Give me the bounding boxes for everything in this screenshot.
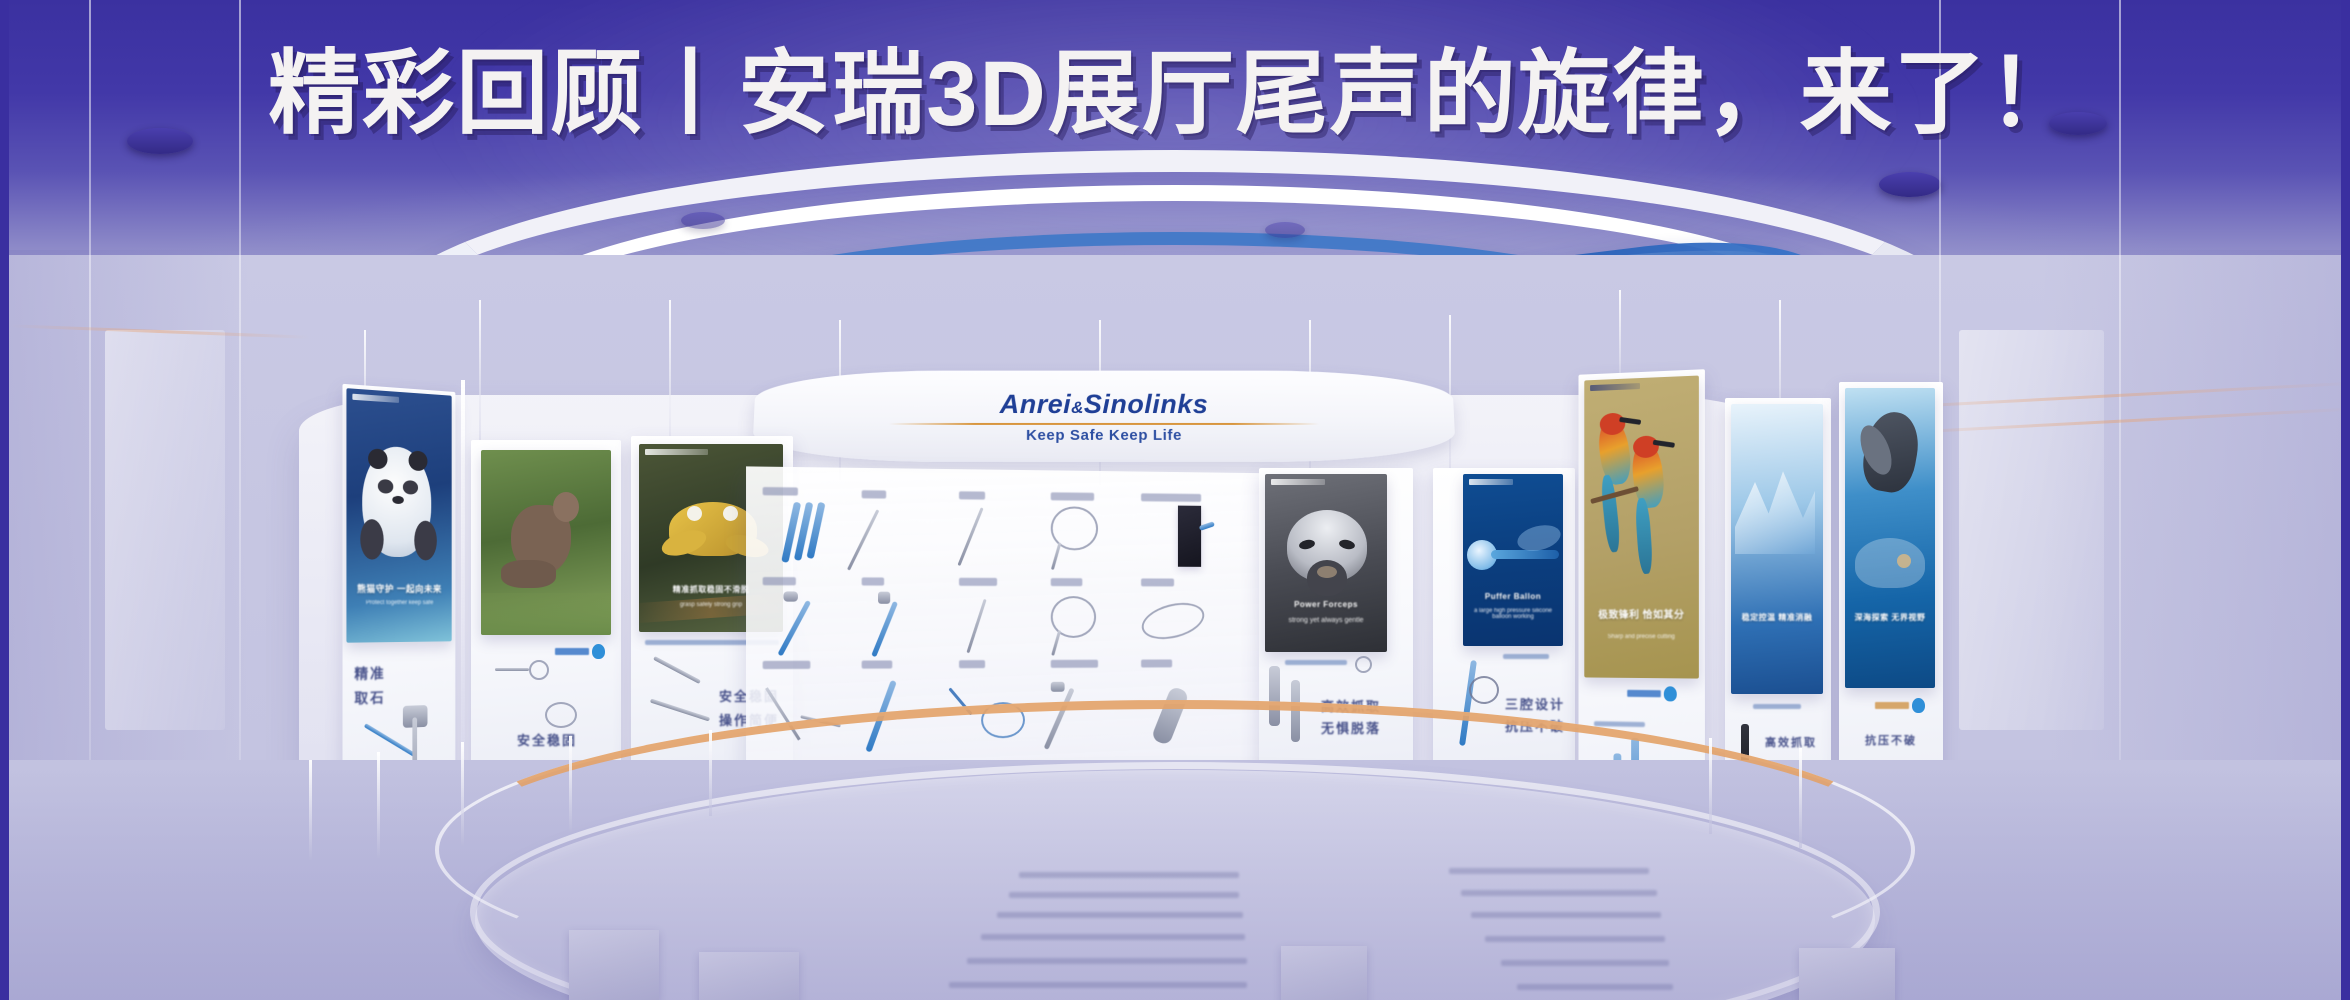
ceiling-light-2 [1879,172,1941,197]
grid-item-9-ellipse [1138,597,1208,645]
grid-label-12 [959,660,985,668]
grid-item-6 [871,601,898,657]
floor-caption-1 [1009,892,1239,898]
ceiling-light-5 [1265,222,1305,238]
ocean-panel-logo [1875,698,1925,713]
ice-poster-title: 稳定控温 精准消融 [1738,612,1815,623]
wall-panel-right [1959,330,2104,730]
floor-crate-3 [1281,946,1367,1000]
bee-eater-logo-wordmark [1627,690,1661,697]
balloon-poster-subtitle: a large high pressure silicone balloon w… [1471,608,1555,620]
instrument-frog-2 [650,699,710,722]
brand-ampersand: & [1071,398,1084,417]
instrument-left-shaft [364,723,417,757]
floor-crate-2 [699,952,799,1000]
ice-poster[interactable]: 稳定控温 精准消融 [1731,404,1823,694]
bee-eater-panel-logo [1627,686,1677,702]
board-kangaroo-line1: 安全稳固 [517,732,577,750]
kangaroo-panel-logo [555,644,605,659]
floor-crate-1 [569,930,659,1000]
grid-label-14 [1141,659,1172,667]
grid-label-11 [862,660,893,668]
brand-tagline: Keep Safe Keep Life [1026,426,1182,443]
railing-post-3 [461,742,464,846]
badger-poster-subtitle: strong yet always gentle [1275,617,1378,624]
floor-caption-4 [967,958,1247,964]
grid-item-13-head [1051,682,1065,692]
hanging-rod-2 [479,300,481,440]
brand-name-right: Sinolinks [1084,389,1209,419]
panel-panda-pillar[interactable]: 熊猫守护 一起向未来 Protect together keep safe 精准… [342,384,455,822]
bee-eater-poster-brand [1590,383,1640,391]
poster-brand-mark [352,394,399,403]
ocean-logo-wordmark [1875,702,1909,709]
brand-header-board: Anrei&Sinolinks Keep Safe Keep Life [752,371,1456,462]
badger-poster-title: Power Forceps [1275,600,1378,609]
instrument-kangaroo-loop-2 [545,702,577,728]
grid-item-5 [777,600,811,656]
floor-caption-5 [949,982,1247,988]
grid-label-2 [959,491,985,499]
grid-label-4 [1141,493,1201,502]
floor-caption-0 [1019,872,1239,878]
instrument-kangaroo-loop [529,660,549,680]
grid-label-8 [1051,578,1083,586]
board-left-line1: 精准 [354,664,385,684]
floor-caption-3 [981,934,1245,940]
panda-poster[interactable]: 熊猫守护 一起向未来 Protect together keep safe [346,388,451,643]
grid-item-2 [957,507,983,566]
grid-item-4-case [1178,506,1201,567]
balloon-poster-brand [1469,479,1513,485]
grid-item-4-tip [1199,521,1215,530]
railing-post-4 [569,736,572,832]
floor-caption-10 [1501,960,1669,966]
board-left-line2: 取石 [354,688,385,708]
floor-caption-7 [1461,890,1657,896]
frog-poster-brand [645,449,708,455]
railing-post-2 [377,752,380,858]
grid-item-7 [966,599,986,653]
grid-item-5-head [783,591,797,601]
bee-eater-poster[interactable]: 极致锋利 恰如其分 Sharp and precise cutting [1584,376,1699,679]
ceiling-light-1 [127,128,193,154]
floor-caption-9 [1485,936,1665,942]
instrument-frog-1 [653,656,701,684]
logo-wordmark [555,648,589,655]
grid-label-0 [763,487,798,496]
instrument-kangaroo-1 [495,668,529,671]
panda-poster-title: 熊猫守护 一起向未来 [355,582,443,595]
floor-caption-6 [1449,868,1649,874]
badger-panel-circle [1355,656,1372,673]
brand-name: Anrei&Sinolinks [1000,389,1209,420]
badger-poster[interactable]: Power Forceps strong yet always gentle [1265,474,1387,652]
railing-post-5 [709,730,712,816]
instrument-balloon-curve [1469,676,1499,704]
grid-label-5 [763,577,796,585]
floor-caption-2 [997,912,1243,918]
balloon-poster[interactable]: Puffer Ballon a large high pressure sili… [1463,474,1563,646]
floor-caption-11 [1517,984,1673,990]
bee-eater-logo-i-mark [1664,686,1677,701]
logo-i-mark [592,644,605,659]
floor-crate-4 [1799,948,1895,1000]
grid-item-8-shaft [1051,630,1061,656]
grid-item-1 [847,509,879,570]
grid-label-13 [1051,660,1098,668]
railing-post-7 [1799,748,1802,848]
brand-name-left: Anrei [1000,389,1072,419]
badger-poster-brand [1271,479,1325,485]
grid-label-9 [1141,578,1174,586]
panda-poster-subtitle: Protect together keep safe [355,600,443,606]
grid-label-10 [763,661,811,669]
exhibition-screenshot: Anrei&Sinolinks Keep Safe Keep Life 熊猫守护… [0,0,2350,1000]
brand-divider-rule [889,422,1319,424]
ocean-poster[interactable]: 深海探索 无界视野 [1845,388,1935,688]
ceiling-light-4 [681,212,725,229]
balloon-poster-title: Puffer Ballon [1471,592,1555,601]
grid-label-6 [862,577,884,585]
railing-post-1 [309,760,312,860]
bee-eater-poster-title: 极致锋利 恰如其分 [1593,606,1689,621]
ocean-logo-i-mark [1912,698,1925,713]
grid-item-6-head [878,592,890,604]
board-ice-text: 高效抓取 [1765,736,1817,751]
railing-post-6 [1709,738,1712,834]
kangaroo-poster[interactable] [481,450,611,635]
grid-label-1 [862,490,886,498]
bee-eater-poster-subtitle: Sharp and precise cutting [1593,634,1689,640]
ocean-poster-title: 深海探索 无界视野 [1852,612,1928,623]
grid-item-3-shaft [1051,542,1061,570]
board-balloon-line1: 三腔设计 [1505,696,1565,714]
grid-label-7 [959,578,997,586]
wall-panel-left [105,330,225,730]
board-ocean-text: 抗压不破 [1865,734,1917,749]
floor-caption-8 [1471,912,1661,918]
grid-label-3 [1051,492,1094,500]
panel-kangaroo[interactable]: 安全稳固 [471,440,621,770]
panel-ocean[interactable]: 深海探索 无界视野 抗压不破 [1839,382,1943,812]
ceiling-light-3 [2049,112,2107,135]
